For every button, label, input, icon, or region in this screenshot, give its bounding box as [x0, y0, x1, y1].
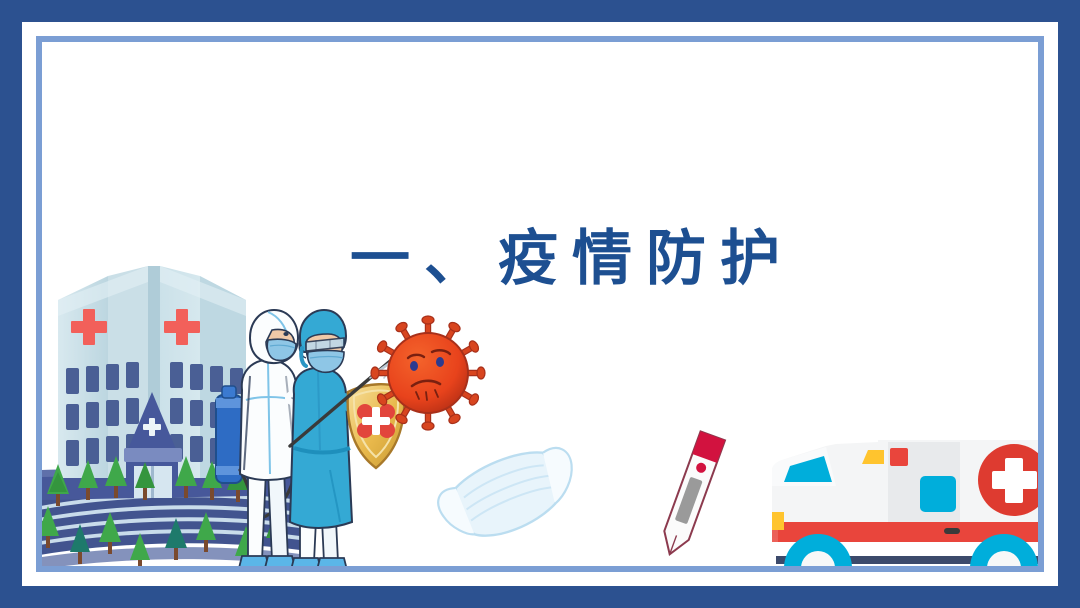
ambulance-cross: [978, 444, 1038, 516]
hospital-tower-right: [160, 266, 200, 478]
ambulance-light-amber: [862, 450, 884, 464]
spray-mist: [370, 356, 408, 388]
hazmat-boot-left: [238, 556, 270, 566]
hospital-cross-right: [164, 309, 200, 345]
virus-character-graphic: [371, 316, 485, 430]
ambulance-wheel-front: [784, 534, 852, 566]
slide-canvas: 一、疫情防护: [0, 0, 1080, 608]
disinfectant-spray-graphic: [290, 346, 408, 446]
hazmat-mask: [267, 339, 296, 360]
nurse-goggles: [306, 338, 344, 351]
sprayer-hose: [240, 446, 295, 517]
thermometer-graphic: [657, 431, 725, 558]
hospital-tower-left: [58, 276, 108, 478]
ambulance-light-red-front: [890, 448, 908, 466]
hazmat-suit: [240, 360, 300, 480]
ambulance-graphic: [772, 440, 1038, 566]
ambulance-body: [772, 440, 1038, 538]
nurse-gown: [290, 368, 352, 528]
hospital-windows: [66, 362, 243, 466]
virus-face: [408, 350, 450, 400]
hospital-entrance: [126, 392, 178, 492]
nurse-worker-graphic: [290, 310, 362, 566]
ambulance-windshield: [784, 456, 832, 482]
hospital-trees: [42, 456, 286, 566]
protection-shield-graphic: [348, 384, 405, 468]
sprayer-tank: [216, 386, 242, 483]
virus-spikes: [371, 316, 485, 430]
shield-emblem: [357, 404, 395, 438]
nurse-cap: [300, 310, 346, 352]
hospital-building-graphic: [42, 266, 300, 566]
hazmat-boot-right: [264, 556, 296, 566]
hazmat-worker-graphic: [216, 310, 333, 566]
hazmat-arm: [292, 398, 324, 424]
nurse-boot-left: [290, 558, 322, 566]
nurse-mask: [308, 351, 344, 373]
ambulance-wheel-rear: [970, 534, 1038, 566]
mask-ear-loop-right: [535, 443, 584, 504]
ambulance-stripe: [778, 522, 1038, 542]
hazmat-hood: [250, 310, 298, 363]
mask-ear-loop-left: [434, 486, 475, 542]
page-title: 一、疫情防护: [350, 229, 794, 289]
surgical-mask-graphic: [431, 436, 587, 553]
illustration-layer: [42, 42, 1038, 566]
nurse-arm: [344, 400, 362, 430]
slide-content-area: 一、疫情防护: [42, 42, 1038, 566]
hospital-steps: [42, 465, 300, 566]
nurse-boot-right: [316, 558, 348, 566]
ambulance-side-window: [920, 476, 956, 512]
hospital-cross-left: [71, 309, 107, 345]
